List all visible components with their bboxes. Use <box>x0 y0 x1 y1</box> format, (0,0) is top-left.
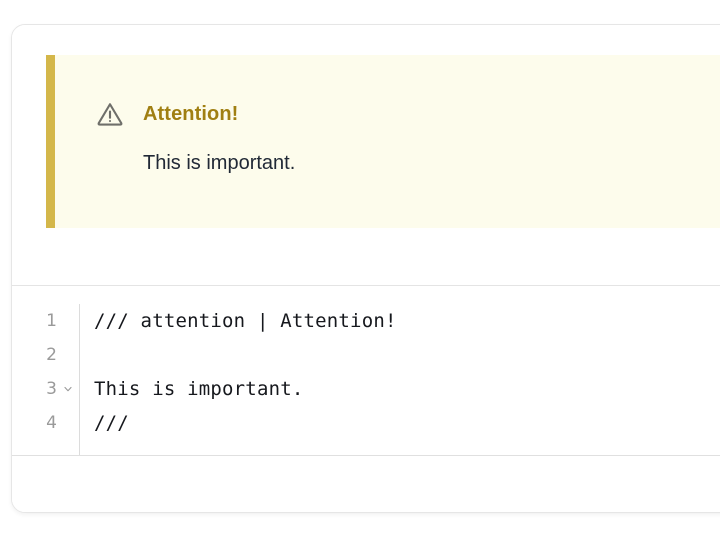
screenshot-stage: Attention! This is important. 1 2 3 <box>0 0 720 544</box>
preview-pane: Attention! This is important. <box>12 25 720 286</box>
gutter-line: 4 <box>12 406 79 440</box>
editor-gutter: 1 2 3 4 <box>12 304 80 455</box>
line-number: 3 <box>35 381 57 398</box>
warning-triangle-icon <box>95 99 125 129</box>
admonition-title-row: Attention! <box>55 99 720 129</box>
chevron-down-icon[interactable] <box>61 382 75 396</box>
code-line[interactable]: This is important. <box>94 372 720 406</box>
code-line[interactable] <box>94 338 720 372</box>
editor-code-area[interactable]: /// attention | Attention! This is impor… <box>80 304 720 455</box>
line-number: 1 <box>35 313 57 330</box>
gutter-line: 1 <box>12 304 79 338</box>
line-number: 4 <box>35 415 57 432</box>
code-line[interactable]: /// attention | Attention! <box>94 304 720 338</box>
admonition-title: Attention! <box>143 103 238 126</box>
gutter-line: 3 <box>12 372 79 406</box>
example-card: Attention! This is important. 1 2 3 <box>11 24 720 513</box>
code-editor[interactable]: 1 2 3 4 <box>12 286 720 456</box>
gutter-line: 2 <box>12 338 79 372</box>
card-footer <box>12 456 720 512</box>
code-line[interactable]: /// <box>94 406 720 440</box>
admonition-attention: Attention! This is important. <box>46 55 720 228</box>
line-number: 2 <box>35 347 57 364</box>
admonition-body: This is important. <box>55 152 720 175</box>
